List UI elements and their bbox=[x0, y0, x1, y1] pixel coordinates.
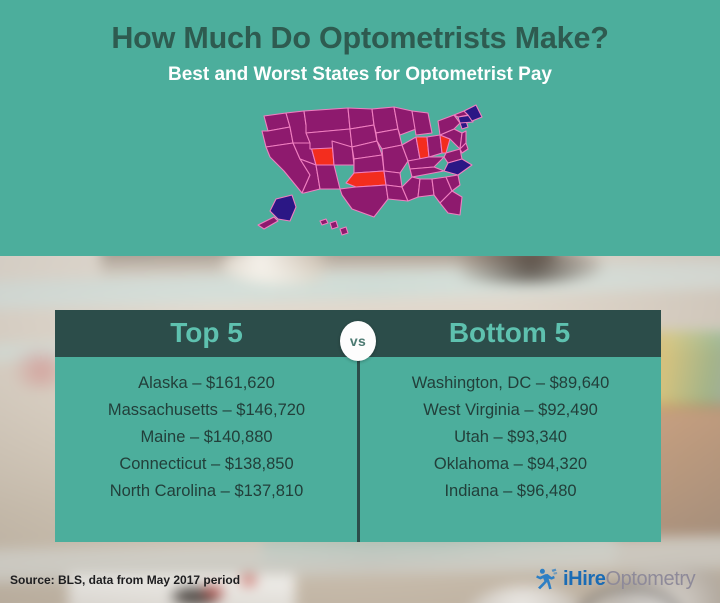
list-item: West Virginia – $92,490 bbox=[363, 399, 658, 421]
logo-primary-text: iHire bbox=[563, 568, 605, 590]
page-title: How Much Do Optometrists Make? bbox=[0, 21, 720, 56]
list-item: Massachusetts – $146,720 bbox=[59, 399, 354, 421]
state-texas bbox=[340, 185, 388, 217]
top5-list: Alaska – $161,620 Massachusetts – $146,7… bbox=[59, 372, 354, 502]
state-tennessee bbox=[410, 167, 444, 177]
list-item: North Carolina – $137,810 bbox=[59, 480, 354, 502]
top5-heading: Top 5 bbox=[55, 317, 358, 349]
list-item: Connecticut – $138,850 bbox=[59, 453, 354, 475]
state-minnesota bbox=[372, 107, 398, 133]
bottom5-heading: Bottom 5 bbox=[358, 317, 661, 349]
logo-secondary-text: Optometry bbox=[605, 568, 695, 590]
state-newmexico bbox=[316, 165, 340, 189]
comparison-card: Top 5 vs Bottom 5 Alaska – $161,620 Mass… bbox=[55, 310, 661, 542]
list-item: Utah – $93,340 bbox=[363, 426, 658, 448]
state-hawaii-2 bbox=[330, 221, 338, 229]
bottom5-list: Washington, DC – $89,640 West Virginia –… bbox=[363, 372, 658, 502]
list-item: Indiana – $96,480 bbox=[363, 480, 658, 502]
infographic-root: How Much Do Optometrists Make? Best and … bbox=[0, 0, 720, 603]
state-hawaii-1 bbox=[320, 219, 328, 225]
list-item: Maine – $140,880 bbox=[59, 426, 354, 448]
header-band: How Much Do Optometrists Make? Best and … bbox=[0, 0, 720, 256]
list-item: Washington, DC – $89,640 bbox=[363, 372, 658, 394]
column-divider bbox=[357, 357, 360, 542]
source-note: Source: BLS, data from May 2017 period bbox=[10, 573, 240, 587]
list-item: Oklahoma – $94,320 bbox=[363, 453, 658, 475]
us-map bbox=[248, 103, 488, 243]
list-item: Alaska – $161,620 bbox=[59, 372, 354, 394]
state-michigan bbox=[412, 111, 432, 135]
vs-badge: vs bbox=[340, 321, 376, 361]
page-subtitle: Best and Worst States for Optometrist Pa… bbox=[0, 64, 720, 86]
state-alabama bbox=[418, 179, 434, 197]
state-ohio bbox=[427, 135, 442, 157]
us-map-svg bbox=[248, 103, 488, 243]
running-person-icon bbox=[534, 567, 558, 591]
state-oklahoma bbox=[346, 171, 386, 187]
state-alaska-aleutians bbox=[258, 217, 278, 229]
state-hawaii-3 bbox=[340, 227, 348, 235]
ihire-optometry-logo[interactable]: iHireOptometry bbox=[534, 565, 695, 593]
